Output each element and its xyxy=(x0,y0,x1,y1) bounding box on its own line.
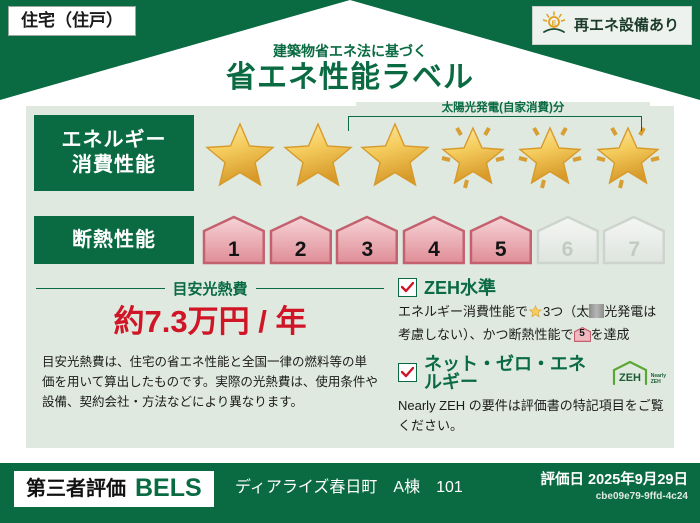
solar-portion-bracket xyxy=(348,116,642,131)
insulation-level-value: 6 xyxy=(562,238,574,262)
energy-label-line2: 消費性能 xyxy=(72,153,156,178)
zeh-logo-icon: ZEH Nearly ZEH xyxy=(610,360,666,386)
evaluation-date-value: 2025年9月29日 xyxy=(588,472,688,488)
star-icon xyxy=(280,114,356,192)
insulation-level-value: 2 xyxy=(295,238,307,262)
bels-jp-label: 第三者評価 xyxy=(26,479,126,499)
label-footer: 第三者評価 BELS ディアライズ春日町 A棟 101 評価日 2025年9月2… xyxy=(0,463,700,523)
redacted-character xyxy=(589,304,604,318)
star-icon-inline xyxy=(528,304,543,325)
heading-rule-left xyxy=(36,288,165,290)
svg-text:E: E xyxy=(552,21,557,28)
zeh-standard-body: エネルギー消費性能で3つ（太光発電は考慮しない）、かつ断熱性能で5を達成 xyxy=(398,302,666,346)
label-title-block: 建築物省エネ法に基づく 省エネ性能ラベル xyxy=(0,44,700,97)
net-zero-energy-title: ネット・ゼロ・エネルギー xyxy=(424,355,603,391)
insulation-level-inline-value: 5 xyxy=(574,327,591,342)
svg-text:ZEH: ZEH xyxy=(619,372,641,384)
zeh-logo-sub2: ZEH xyxy=(651,380,666,386)
zeh-standard-body-mid: 3つ（太 xyxy=(543,304,589,319)
insulation-level-badge: 2 xyxy=(269,215,333,265)
evaluation-date-label: 評価日 xyxy=(541,472,585,488)
utility-cost-note: 目安光熱費は、住宅の省エネ性能と全国一律の燃料等の単価を用いて算出したものです。… xyxy=(36,352,384,413)
insulation-level-value: 4 xyxy=(428,238,440,262)
insulation-level-badge: 3 xyxy=(335,215,399,265)
insulation-level-inline-badge: 5 xyxy=(574,327,591,342)
insulation-level-badge: 4 xyxy=(402,215,466,265)
renewable-energy-badge: E 再エネ設備あり xyxy=(532,6,692,45)
checkbox-checked-icon xyxy=(398,363,417,382)
evaluation-id: cbe09e79-9ffd-4c24 xyxy=(541,490,688,503)
zeh-standard-item: ZEH水準 xyxy=(398,278,666,297)
insulation-level-value: 3 xyxy=(361,238,373,262)
evaluation-info: 評価日 2025年9月29日 cbe09e79-9ffd-4c24 xyxy=(541,472,688,503)
insulation-level-value: 1 xyxy=(228,238,240,262)
insulation-level-value: 7 xyxy=(628,238,640,262)
performance-panel: エネルギー 消費性能 太陽光発電(自家消費)分 xyxy=(26,106,674,448)
bels-certification-mark: 第三者評価 BELS xyxy=(14,471,214,507)
bels-en-label: BELS xyxy=(135,476,202,501)
energy-label-line1: エネルギー xyxy=(62,128,167,153)
star-icon xyxy=(202,114,278,192)
title-subtitle: 建築物省エネ法に基づく xyxy=(0,44,700,59)
net-zero-energy-body: Nearly ZEH の要件は評価書の特記項目をご覧ください。 xyxy=(398,396,666,438)
solar-portion-label: 太陽光発電(自家消費)分 xyxy=(356,102,650,116)
energy-performance-label: 住宅（住戸） E 再エネ設備あり 建築物省エネ法に基づく 省エネ性能ラベル xyxy=(0,0,700,523)
house-type-tag: 住宅（住戸） xyxy=(8,6,136,36)
utility-cost-value: 約7.3万円 / 年 xyxy=(36,299,384,346)
evaluation-date-row: 評価日 2025年9月29日 xyxy=(541,472,688,489)
utility-cost-section: 目安光熱費 約7.3万円 / 年 目安光熱費は、住宅の省エネ性能と全国一律の燃料… xyxy=(36,278,384,412)
insulation-level-badge: 5 xyxy=(469,215,533,265)
utility-cost-heading: 目安光熱費 xyxy=(173,278,248,299)
zeh-standard-body-end: を達成 xyxy=(591,327,630,342)
property-name: ディアライズ春日町 A棟 101 xyxy=(235,480,463,496)
renewable-energy-badge-label: 再エネ設備あり xyxy=(574,18,679,33)
zeh-standard-body-pre: エネルギー消費性能で xyxy=(398,304,528,319)
insulation-level-badge-inactive: 7 xyxy=(602,215,666,265)
net-zero-energy-item: ネット・ゼロ・エネルギー ZEH Nearly ZEH xyxy=(398,355,666,391)
heading-rule-right xyxy=(256,288,385,290)
insulation-level-badge-inactive: 6 xyxy=(536,215,600,265)
checkbox-checked-icon xyxy=(398,278,417,297)
energy-consumption-label: エネルギー 消費性能 xyxy=(34,115,194,191)
title-main: 省エネ性能ラベル xyxy=(0,59,700,97)
insulation-label: 断熱性能 xyxy=(34,216,194,264)
sun-icon: E xyxy=(541,11,567,40)
utility-cost-heading-row: 目安光熱費 xyxy=(36,278,384,299)
zeh-standard-title: ZEH水準 xyxy=(424,279,496,297)
insulation-level-badge: 1 xyxy=(202,215,266,265)
insulation-level-value: 5 xyxy=(495,238,507,262)
zeh-section: ZEH水準 エネルギー消費性能で3つ（太光発電は考慮しない）、かつ断熱性能で5を… xyxy=(398,278,666,437)
insulation-level-group: 1 2 3 4 xyxy=(202,212,666,268)
